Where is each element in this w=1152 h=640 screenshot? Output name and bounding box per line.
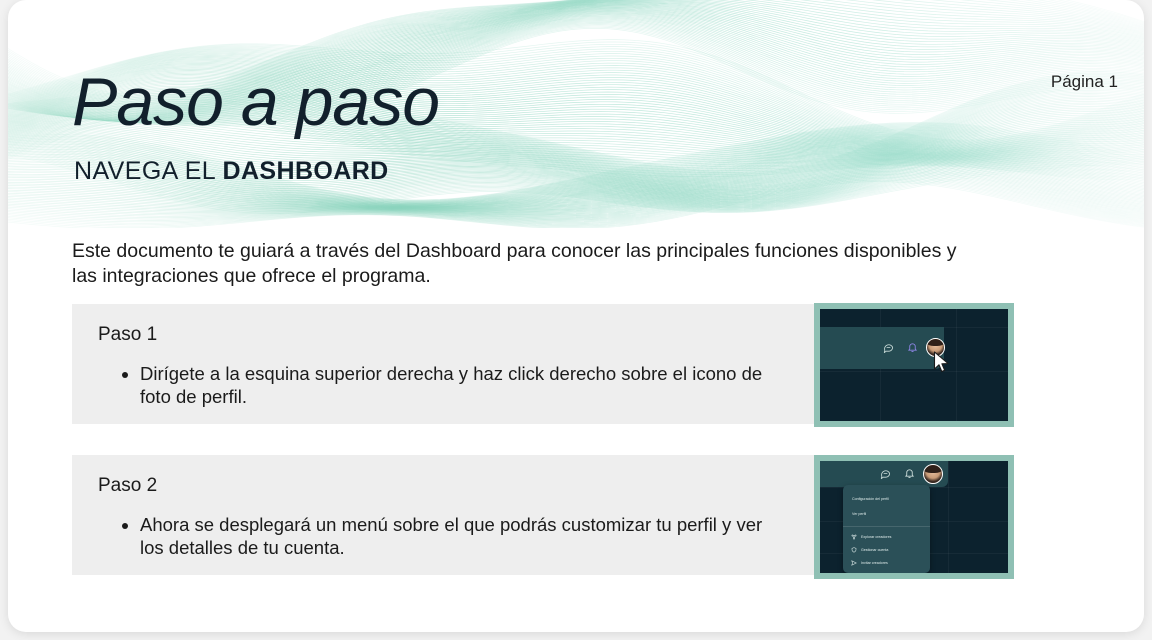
- menu-item-label: Explorar creadores: [861, 535, 891, 540]
- menu-item-label: Invitar creadores: [861, 561, 888, 566]
- menu-item-explore-creators[interactable]: Explorar creadores: [851, 534, 891, 540]
- bell-icon[interactable]: [907, 341, 918, 353]
- menu-item-view-profile[interactable]: Ver perfil: [852, 512, 866, 517]
- grid-line: [948, 461, 949, 573]
- menu-item-label: Ver perfil: [852, 512, 866, 517]
- menu-item-label: Configuración del perfil: [852, 497, 889, 502]
- chat-bubble-icon[interactable]: [883, 342, 894, 353]
- menu-divider: [843, 526, 930, 527]
- avatar-hair: [924, 465, 942, 473]
- grid-line: [956, 309, 957, 421]
- send-icon: [851, 560, 857, 566]
- profile-avatar[interactable]: [923, 464, 943, 484]
- subtitle-strong: DASHBOARD: [223, 157, 389, 185]
- step-1-bullet: Dirígete a la esquina superior derecha y…: [140, 362, 768, 408]
- dashboard-preview-2: Configuración del perfil Ver perfil Expl…: [820, 461, 1008, 573]
- menu-item-manage-account[interactable]: Gestionar cuenta: [851, 547, 888, 553]
- page-number: Página 1: [1051, 72, 1118, 92]
- step-2-screenshot[interactable]: Configuración del perfil Ver perfil Expl…: [814, 455, 1014, 579]
- menu-item-profile-settings[interactable]: Configuración del perfil: [852, 497, 889, 502]
- step-1-body: Dirígete a la esquina superior derecha y…: [118, 362, 768, 408]
- grid-line: [820, 371, 1008, 372]
- profile-dropdown-menu: Configuración del perfil Ver perfil Expl…: [843, 485, 930, 573]
- menu-item-label: Gestionar cuenta: [861, 548, 888, 553]
- step-1-screenshot[interactable]: [814, 303, 1014, 427]
- shield-icon: [851, 547, 857, 553]
- subtitle-prefix: NAVEGA EL: [74, 157, 223, 185]
- intro-paragraph: Este documento te guiará a través del Da…: [72, 239, 972, 289]
- dashboard-preview-1: [820, 309, 1008, 421]
- mouse-cursor: [933, 351, 950, 379]
- step-2-body: Ahora se desplegará un menú sobre el que…: [118, 513, 768, 559]
- step-1-label: Paso 1: [98, 324, 157, 346]
- page-title: Paso a paso: [72, 62, 439, 142]
- menu-item-invite-creators[interactable]: Invitar creadores: [851, 560, 888, 566]
- step-2-bullet: Ahora se desplegará un menú sobre el que…: [140, 513, 768, 559]
- page-subtitle: NAVEGA EL DASHBOARD: [74, 155, 389, 187]
- network-icon: [851, 534, 857, 540]
- step-2-label: Paso 2: [98, 475, 157, 497]
- avatar-hair: [927, 339, 944, 346]
- chat-bubble-icon[interactable]: [880, 468, 891, 479]
- bell-icon[interactable]: [904, 467, 915, 479]
- page-card: Paso a paso NAVEGA EL DASHBOARD Página 1…: [8, 0, 1144, 632]
